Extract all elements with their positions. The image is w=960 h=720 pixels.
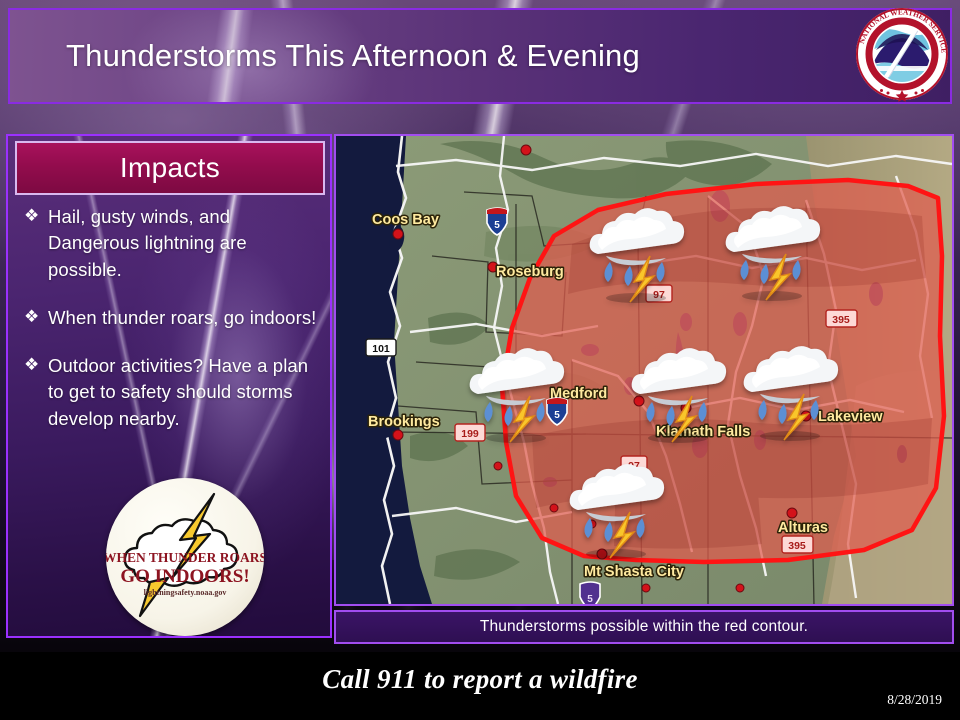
list-item-label: When thunder roars, go indoors!: [48, 305, 316, 331]
impacts-bullet-list: ❖ Hail, gusty winds, and Dangerous light…: [18, 204, 324, 454]
badge-line-3: lightningsafety.noaa.gov: [144, 588, 227, 597]
slide-date: 8/28/2019: [887, 692, 942, 708]
shield-label: 5: [554, 410, 560, 421]
city-label-brookings: Brookings: [368, 414, 440, 430]
shield-us-101: 101: [366, 339, 396, 356]
shield-label: 395: [832, 314, 850, 326]
city-label-coos-bay: Coos Bay: [372, 212, 439, 228]
footer-headline: Call 911 to report a wildfire: [0, 664, 960, 695]
nws-logo-icon: NATIONAL WEATHER SERVICE: [854, 6, 950, 102]
shield-us-395-south: 395: [782, 536, 813, 553]
list-item: ❖ Outdoor activities? Have a plan to get…: [18, 353, 324, 432]
diamond-bullet-icon: ❖: [18, 204, 48, 283]
map-canvas: Coos Bay Roseburg Brookings Medford Klam…: [336, 136, 952, 604]
shield-label: 395: [788, 540, 806, 552]
shield-us-199: 199: [455, 424, 485, 441]
city-label-alturas: Alturas: [778, 520, 828, 536]
shield-us-395-north: 395: [826, 310, 857, 327]
list-item: ❖ When thunder roars, go indoors!: [18, 305, 324, 331]
list-item: ❖ Hail, gusty winds, and Dangerous light…: [18, 204, 324, 283]
map-caption-bar: Thunderstorms possible within the red co…: [334, 610, 954, 644]
list-item-label: Hail, gusty winds, and Dangerous lightni…: [48, 204, 324, 283]
impacts-title: Impacts: [120, 152, 220, 184]
city-label-roseburg: Roseburg: [496, 264, 564, 280]
diamond-bullet-icon: ❖: [18, 353, 48, 432]
slide-header: Thunderstorms This Afternoon & Evening: [8, 8, 952, 104]
slide-canvas: Thunderstorms This Afternoon & Evening N…: [0, 0, 960, 720]
city-label-lakeview: Lakeview: [818, 409, 883, 425]
lightning-safety-badge: WHEN THUNDER ROARS GO INDOORS! lightning…: [106, 478, 264, 636]
impacts-header-box: Impacts: [15, 141, 325, 195]
shield-label: 101: [372, 343, 390, 355]
shield-label: 199: [461, 428, 479, 440]
list-item-label: Outdoor activities? Have a plan to get t…: [48, 353, 324, 432]
shield-label: 5: [494, 220, 500, 231]
badge-line-1: WHEN THUNDER ROARS: [106, 550, 264, 565]
shield-label: 5: [587, 594, 593, 604]
page-title: Thunderstorms This Afternoon & Evening: [66, 38, 640, 74]
badge-line-2: GO INDOORS!: [120, 566, 249, 587]
impacts-panel: Impacts ❖ Hail, gusty winds, and Dangero…: [6, 134, 332, 638]
map-caption-text: Thunderstorms possible within the red co…: [480, 618, 808, 636]
forecast-map[interactable]: Coos Bay Roseburg Brookings Medford Klam…: [334, 134, 954, 606]
shield-interstate-5-south: 5: [580, 582, 600, 604]
diamond-bullet-icon: ❖: [18, 305, 48, 331]
city-label-mt-shasta-city: Mt Shasta City: [584, 564, 684, 580]
